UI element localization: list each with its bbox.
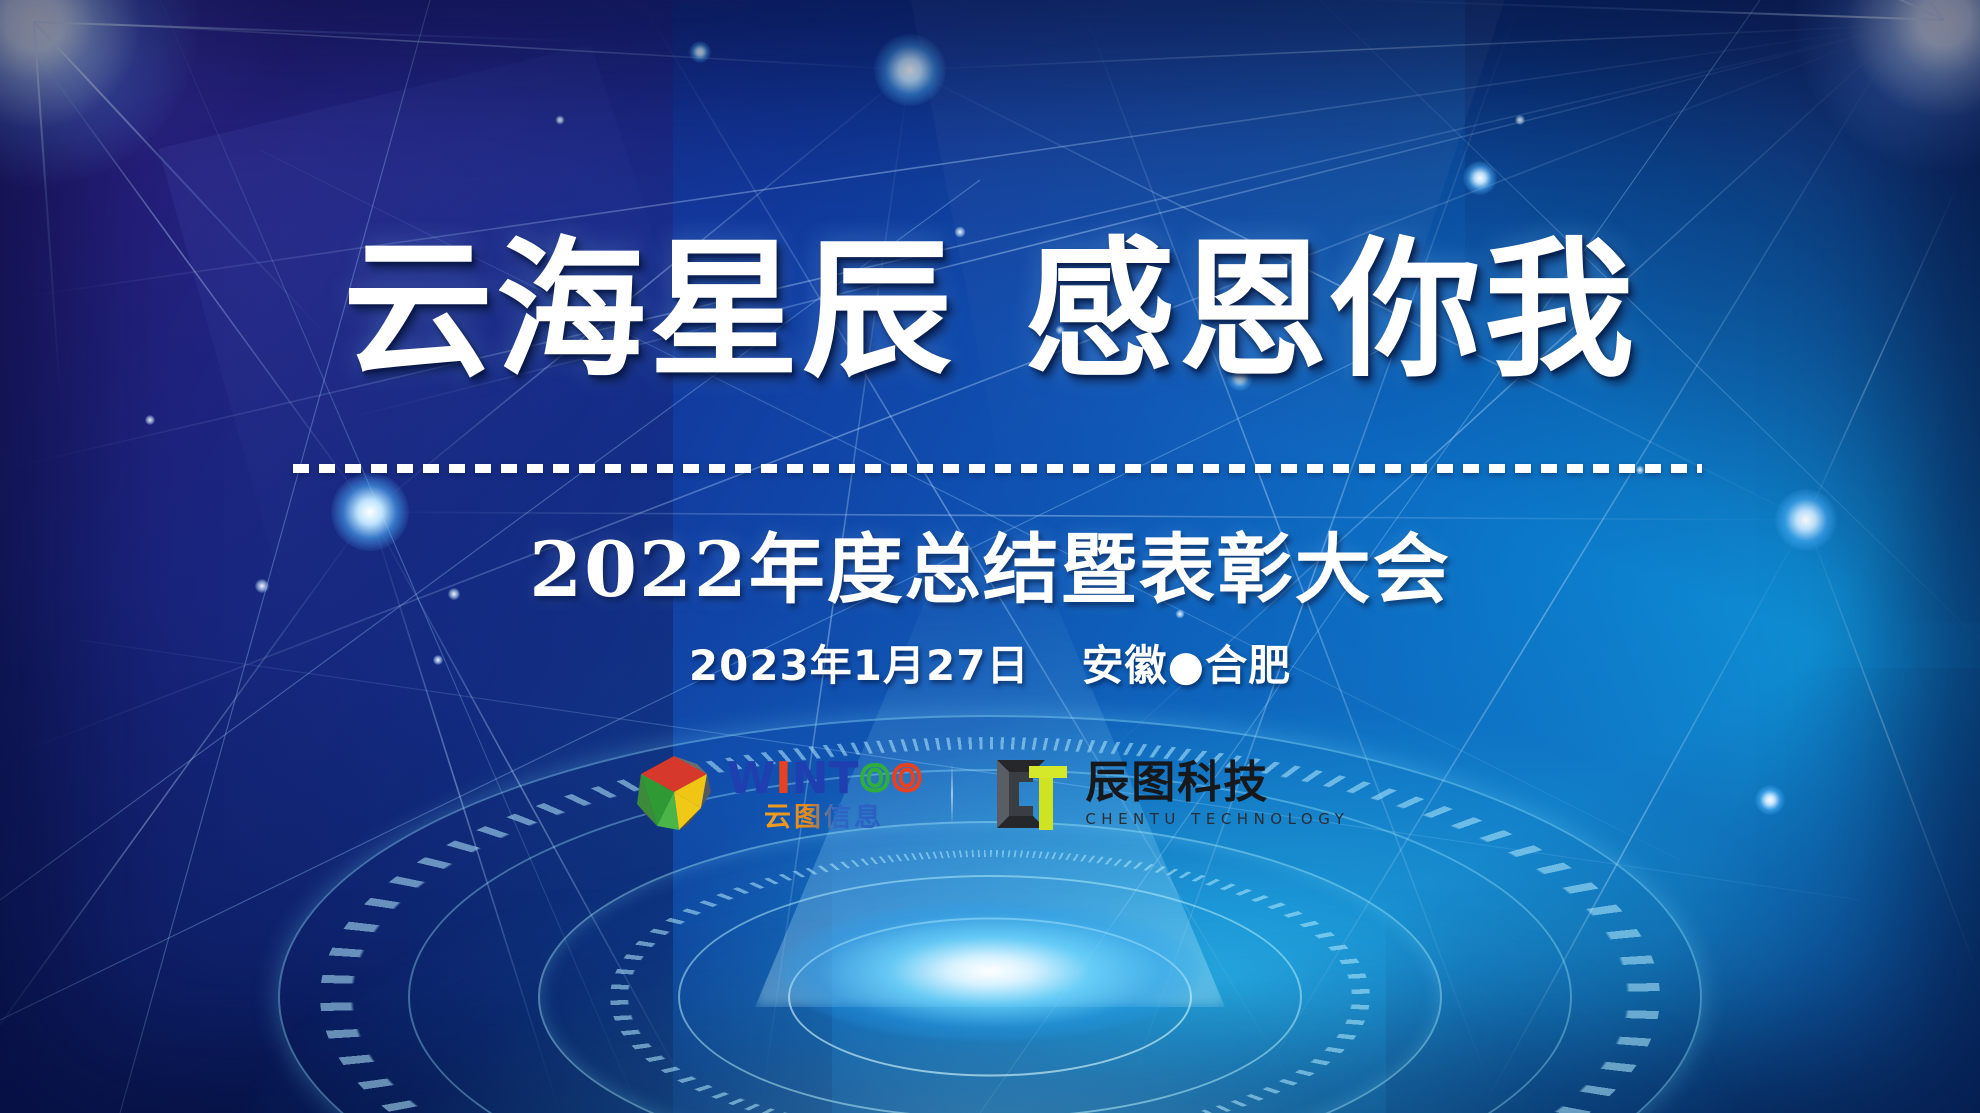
poster-canvas: 云海星辰感恩你我 2022年度总结暨表彰大会 2023年1月27日安徽●合肥: [0, 0, 1980, 1113]
page-title: 云海星辰感恩你我: [0, 232, 1980, 390]
sponsor-logos: WINTOO 云图信息 辰图科技 CHENTU TECHNOLOGY: [0, 752, 1980, 836]
wintoo-letter-i: I: [775, 757, 791, 801]
wintoo-chinese-name: 云图信息: [764, 804, 884, 831]
title-part-1: 云海星辰: [343, 222, 955, 398]
poster-content: 云海星辰感恩你我 2022年度总结暨表彰大会 2023年1月27日安徽●合肥: [0, 0, 1980, 1113]
wintoo-letter-t: T: [828, 757, 858, 801]
dashed-divider: [293, 464, 1702, 473]
ct-monogram-icon: [983, 752, 1075, 836]
wintoo-letter-o2: O: [892, 762, 921, 796]
wintoo-letter-w: W: [727, 757, 776, 801]
chentu-chinese-name: 辰图科技: [1085, 761, 1269, 805]
wintoo-letter-n: N: [792, 757, 829, 801]
event-dateline: 2023年1月27日安徽●合肥: [0, 632, 1980, 693]
wintoo-wordmark: WINTOO 云图信息: [727, 757, 922, 831]
chentu-english-name: CHENTU TECHNOLOGY: [1085, 812, 1349, 827]
wintoo-letters: WINTOO: [727, 757, 922, 801]
polyhedron-icon: [631, 752, 717, 836]
chentu-wordmark: 辰图科技 CHENTU TECHNOLOGY: [1085, 761, 1349, 827]
logo-divider: [951, 763, 953, 825]
wintoo-logo: WINTOO 云图信息: [631, 752, 922, 836]
event-location: 安徽●合肥: [1081, 641, 1291, 690]
wintoo-letter-o1: O: [861, 762, 890, 796]
event-date: 2023年1月27日: [689, 641, 1030, 690]
page-subtitle: 2022年度总结暨表彰大会: [0, 508, 1980, 618]
title-part-2: 感恩你我: [1025, 222, 1637, 398]
chentu-logo: 辰图科技 CHENTU TECHNOLOGY: [983, 752, 1349, 836]
